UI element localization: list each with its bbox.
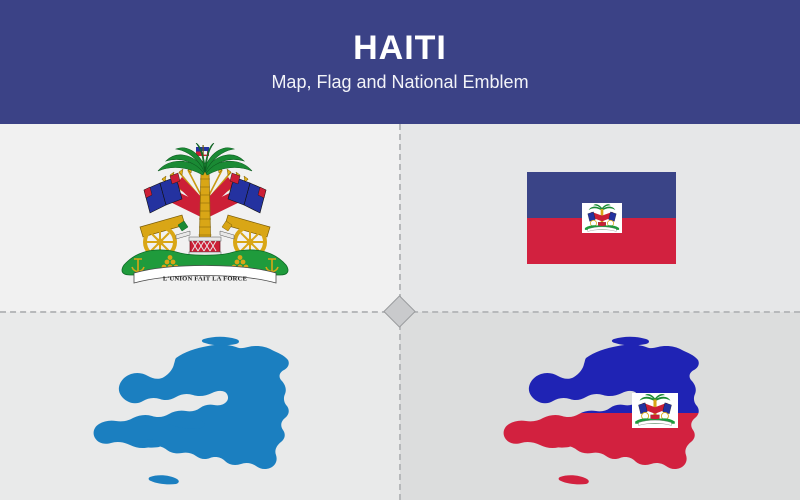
map-fill-blue (498, 325, 726, 413)
haiti-flag (527, 172, 676, 264)
map-flag-emblem-badge (632, 393, 678, 428)
map-shape-tortuga (202, 337, 239, 346)
haiti-map-flag-filled (498, 325, 726, 500)
map-shape-islet-b (149, 475, 179, 484)
page-title: HAITI (353, 31, 447, 67)
header-banner: HAITI Map, Flag and National Emblem (0, 0, 800, 124)
map-shape-main (94, 345, 289, 469)
map-fill-red (498, 413, 726, 500)
emblem-motto-text: L'UNION FAIT LA FORCE (163, 276, 248, 283)
coat-of-arms-emblem: L'UNION FAIT LA FORCE (110, 143, 300, 288)
haiti-map-plain (88, 325, 316, 500)
flag-emblem-panel (582, 203, 622, 233)
page-subtitle: Map, Flag and National Emblem (271, 73, 528, 93)
poster-root: HAITI Map, Flag and National Emblem (0, 0, 800, 500)
